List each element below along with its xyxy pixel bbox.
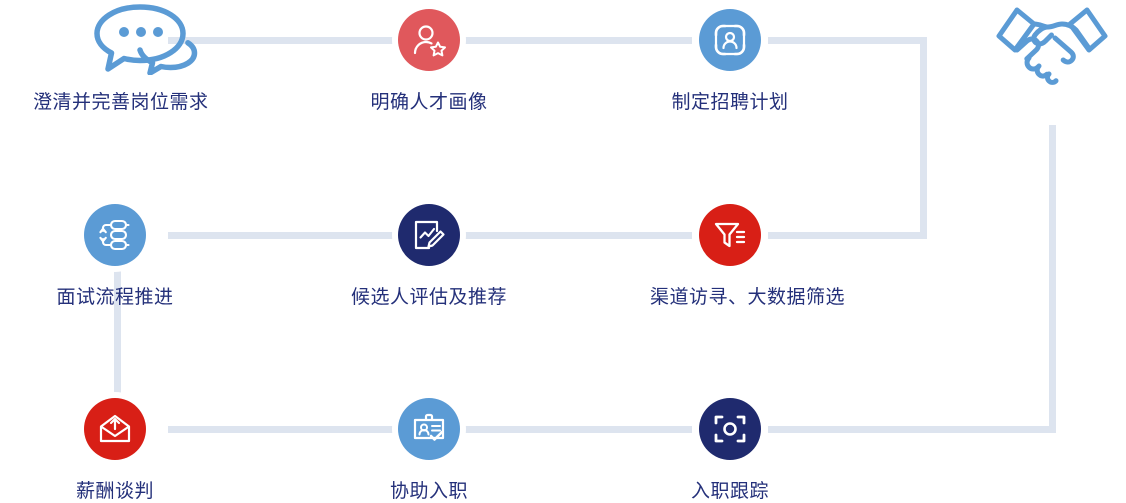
- step-node-5[interactable]: 候选人评估及推荐: [349, 204, 509, 309]
- connector-step9-to-right: [768, 426, 1056, 433]
- step-label-8: 协助入职: [349, 476, 509, 503]
- recruitment-flow-diagram: 澄清并完善岗位需求 明确人才画像: [0, 0, 1126, 501]
- funnel-filter-icon: [712, 217, 748, 253]
- connector-far-right-vertical: [1049, 125, 1056, 433]
- user-star-icon: [411, 22, 447, 58]
- step-label-3: 制定招聘计划: [650, 87, 810, 114]
- step-icon-7: [84, 398, 146, 460]
- step-node-9[interactable]: 入职跟踪: [650, 398, 810, 503]
- connector-right-down-to-row2: [920, 37, 927, 239]
- step-icon-4: [699, 204, 761, 266]
- step-label-5: 候选人评估及推荐: [349, 282, 509, 309]
- step-label-2: 明确人才画像: [349, 87, 509, 114]
- step-label-4: 渠道访寻、大数据筛选: [650, 282, 810, 309]
- step-label-6: 面试流程推进: [35, 282, 195, 309]
- step-node-4[interactable]: 渠道访寻、大数据筛选: [650, 204, 810, 309]
- step-node-7[interactable]: 薪酬谈判: [35, 398, 195, 503]
- document-edit-icon: [411, 217, 447, 253]
- focus-target-icon: [712, 411, 748, 447]
- step-node-1[interactable]: 澄清并完善岗位需求: [33, 5, 193, 114]
- step-icon-6: [84, 204, 146, 266]
- step-node-2[interactable]: 明确人才画像: [349, 9, 509, 114]
- step-node-6[interactable]: 面试流程推进: [35, 204, 195, 309]
- step-node-8[interactable]: 协助入职: [349, 398, 509, 503]
- step-icon-8: [398, 398, 460, 460]
- process-flow-icon: [97, 217, 133, 253]
- step-label-7: 薪酬谈判: [35, 476, 195, 503]
- step-label-1: 澄清并完善岗位需求: [33, 87, 193, 114]
- step-icon-5: [398, 204, 460, 266]
- step-label-9: 入职跟踪: [650, 476, 810, 503]
- step-icon-2: [398, 9, 460, 71]
- envelope-up-icon: [97, 411, 133, 447]
- step-icon-3: [699, 9, 761, 71]
- step-icon-9: [699, 398, 761, 460]
- handshake-icon: [993, 4, 1111, 91]
- step-node-3[interactable]: 制定招聘计划: [650, 9, 810, 114]
- user-frame-icon: [712, 22, 748, 58]
- speech-bubbles-icon: [63, 3, 223, 69]
- id-badge-check-icon: [411, 411, 447, 447]
